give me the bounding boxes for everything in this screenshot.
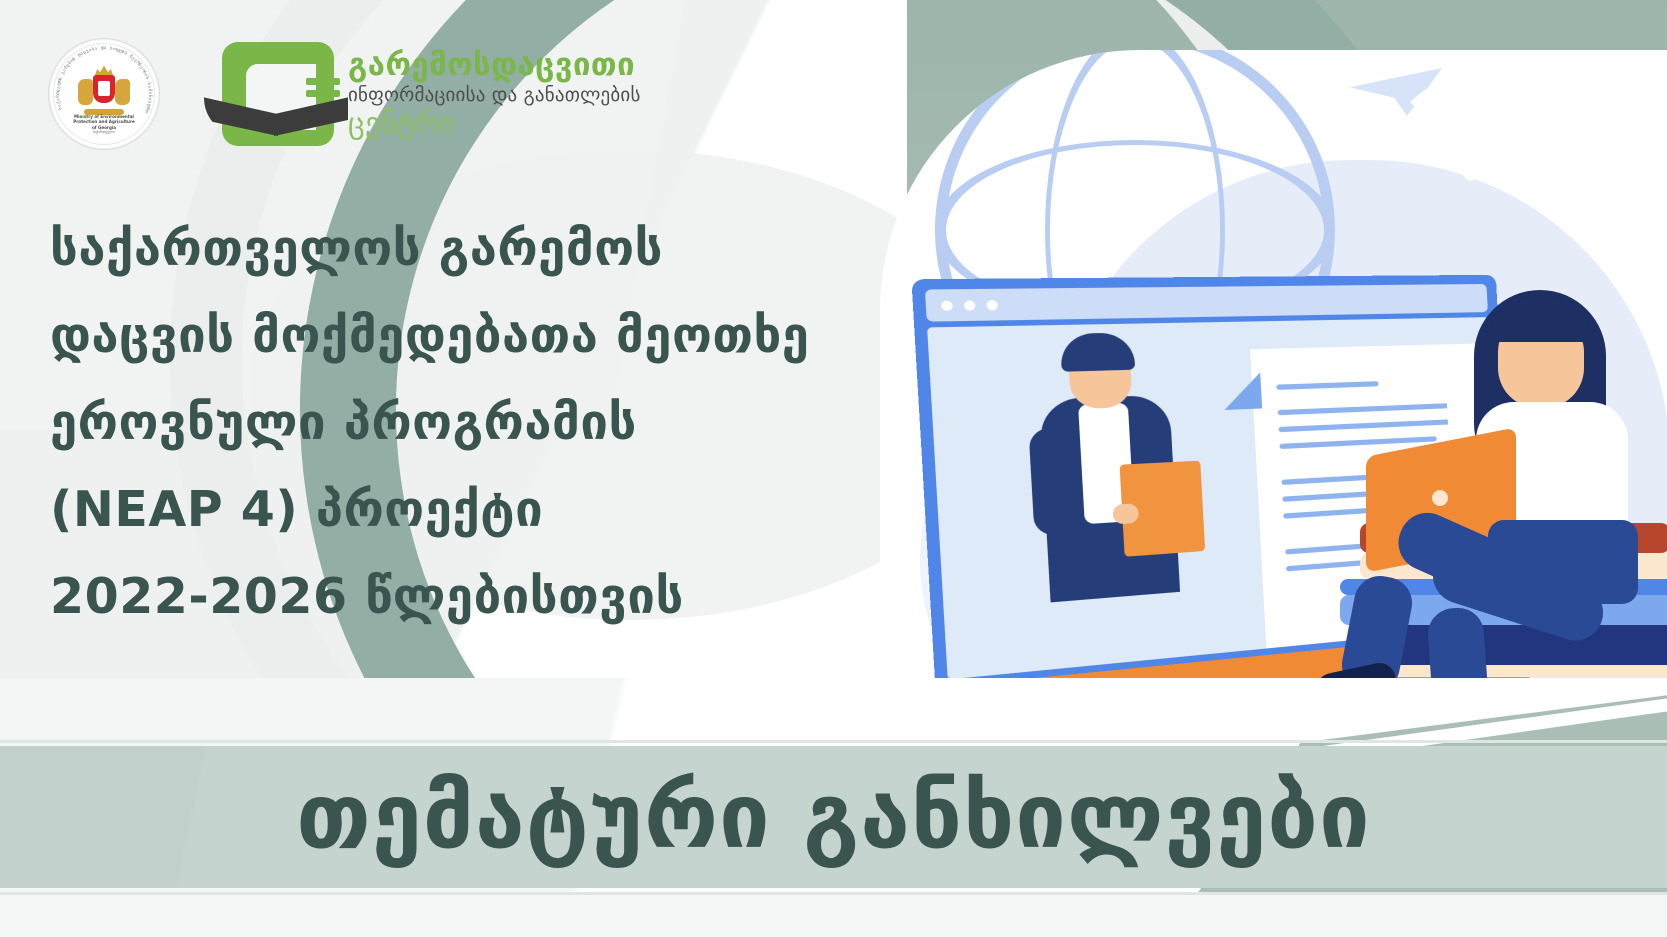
window-dot-icon (941, 301, 953, 311)
title-line-1: საქართველოს გარემოს (50, 205, 750, 292)
seal-caption-ka: საქართველო (49, 130, 159, 135)
title-line-4: (NEAP 4) პროექტი (50, 466, 750, 553)
presenter-arm-left (1028, 427, 1075, 536)
seal-caption: Ministry of Environmental Protection and… (49, 114, 159, 135)
eiec-logo: გარემოსდაცვითი ინფორმაციისა და განათლები… (222, 42, 641, 146)
shield-icon (93, 75, 115, 103)
poster-canvas: საქართველოს გარემოს დაცვისა და სოფლის მე… (0, 0, 1667, 937)
banner-rule-top (0, 740, 1667, 743)
doc-text-line (1276, 381, 1378, 390)
title-line-2: დაცვის მოქმედებათა მეოთხე (50, 292, 750, 379)
lion-icon-left (78, 79, 93, 105)
illustration-panel (880, 50, 1667, 690)
wifi-signal-icon (1380, 72, 1560, 182)
eiec-bar (306, 90, 340, 97)
crown-icon (95, 65, 113, 75)
eiec-line-3: ცენტრი (348, 109, 641, 138)
eiec-bar (306, 78, 340, 85)
eiec-bars (306, 78, 340, 102)
window-dot-icon (986, 300, 998, 310)
page-corner-fold-icon (1222, 372, 1262, 410)
window-dot-icon (964, 300, 976, 310)
page-title: საქართველოს გარემოს დაცვის მოქმედებათა მ… (50, 205, 750, 640)
eiec-line-2: ინფორმაციისა და განათლების (348, 86, 641, 105)
banner-headline-text: თემატური განხილვები (296, 772, 1370, 862)
banner-footer-strip (0, 895, 1667, 937)
georgia-coat-of-arms-icon (76, 63, 132, 119)
title-line-3: ეროვნული პროგრამის (50, 379, 750, 466)
laptop-camera-dot (1432, 490, 1448, 506)
ministry-seal-logo: საქართველოს გარემოს დაცვისა და სოფლის მე… (48, 38, 160, 150)
banner-headline: თემატური განხილვები (0, 746, 1667, 888)
title-line-5: 2022-2026 წლებისთვის (50, 553, 750, 640)
presenter-hair (1060, 332, 1136, 371)
bottom-banner: თემატური განხილვები (0, 678, 1667, 937)
woman-with-laptop (1400, 290, 1667, 690)
eiec-logo-text: გარემოსდაცვითი ინფორმაციისა და განათლები… (348, 50, 641, 138)
eiec-logo-mark (222, 42, 334, 146)
eiec-line-1: გარემოსდაცვითი (348, 50, 641, 81)
logo-row: საქართველოს გარემოს დაცვისა და სოფლის მე… (48, 38, 641, 150)
lion-icon-right (115, 79, 130, 105)
